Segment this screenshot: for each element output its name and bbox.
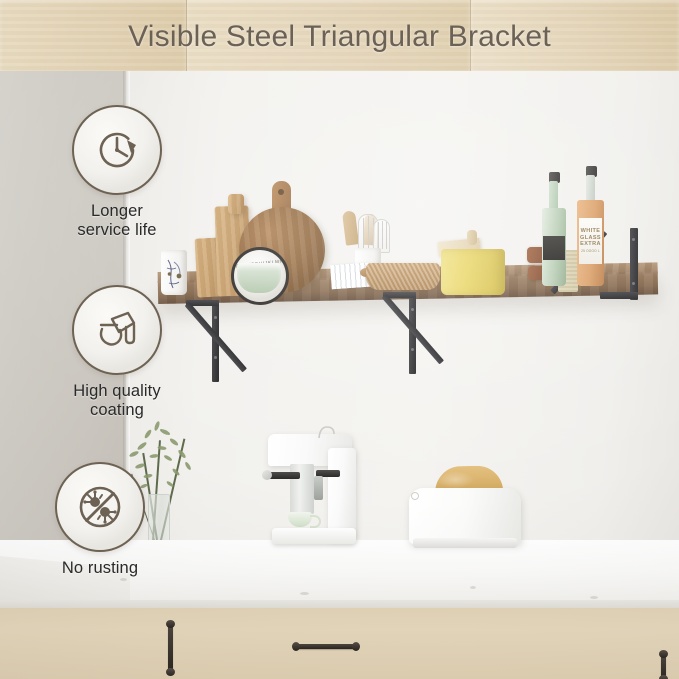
espresso-drip-tray	[272, 528, 356, 544]
feature-badge-longer-service-life: Longer service life	[45, 105, 189, 240]
sage-bowl	[237, 263, 281, 293]
badge-label-line1: High quality	[73, 382, 160, 401]
clock-arrow-icon	[89, 122, 145, 178]
paint-coating-icon	[88, 301, 146, 359]
toaster	[409, 466, 521, 552]
cabinet-handle-left[interactable]	[168, 624, 173, 672]
badge-label: Longer service life	[77, 202, 156, 240]
bracket-screw	[632, 282, 635, 285]
cutting-board-tall-handle	[228, 194, 244, 214]
cabinet-handle-middle[interactable]	[296, 644, 356, 649]
round-board-hole	[278, 189, 284, 195]
bracket-screw	[214, 356, 217, 359]
espresso-top-handle-icon	[316, 425, 336, 439]
badge-label-line2: service life	[77, 221, 156, 240]
cabinet-handle-right[interactable]	[661, 654, 666, 679]
page-title: Visible Steel Triangular Bracket	[0, 20, 679, 54]
feature-badge-high-quality-coating: High quality coating	[22, 285, 212, 420]
green-bottle	[540, 172, 568, 287]
badge-circle	[72, 105, 162, 195]
bracket-screw	[411, 348, 414, 351]
woven-basket	[366, 263, 440, 290]
green-bottle-neck	[549, 181, 558, 211]
steel-triangular-bracket-middle	[383, 292, 443, 374]
bracket-screw	[214, 316, 217, 319]
feature-badge-no-rusting: No rusting	[30, 462, 170, 578]
amber-bottle-label: WHITE GLASS EXTRA 25 OOOO L	[579, 218, 602, 264]
toaster-base	[413, 538, 517, 548]
badge-label: High quality coating	[73, 382, 160, 420]
espresso-cup-handle	[310, 515, 321, 528]
steel-triangular-bracket-right	[598, 228, 654, 300]
espresso-column	[328, 448, 356, 540]
espresso-machine	[262, 428, 372, 550]
yellow-canister	[441, 249, 505, 295]
no-rust-icon	[71, 478, 129, 536]
badge-label-line1: Longer	[77, 202, 156, 221]
espresso-cup	[288, 512, 312, 527]
green-bottle-label	[543, 236, 565, 260]
toaster-lever-icon	[411, 492, 419, 500]
bracket-screw	[411, 308, 414, 311]
product-feature-image: ABCDEFGHIJKLMNO WHITE GLASS	[0, 0, 679, 679]
espresso-portafilter	[314, 476, 323, 500]
bracket-bottom-flange	[600, 292, 638, 299]
badge-circle	[55, 462, 145, 552]
amber-label-line4: 25 OOOO L	[581, 248, 600, 255]
badge-circle	[72, 285, 162, 375]
canister-knob	[467, 230, 477, 245]
amber-bottle-neck	[586, 175, 595, 203]
espresso-steam-knob	[262, 470, 272, 480]
badge-label: No rusting	[62, 559, 138, 578]
bracket-screw	[632, 238, 635, 241]
amber-bottle: WHITE GLASS EXTRA 25 OOOO L	[576, 166, 606, 288]
toaster-body	[409, 488, 521, 544]
badge-label-line2: coating	[73, 401, 160, 420]
badge-label-line1: No rusting	[62, 559, 138, 578]
